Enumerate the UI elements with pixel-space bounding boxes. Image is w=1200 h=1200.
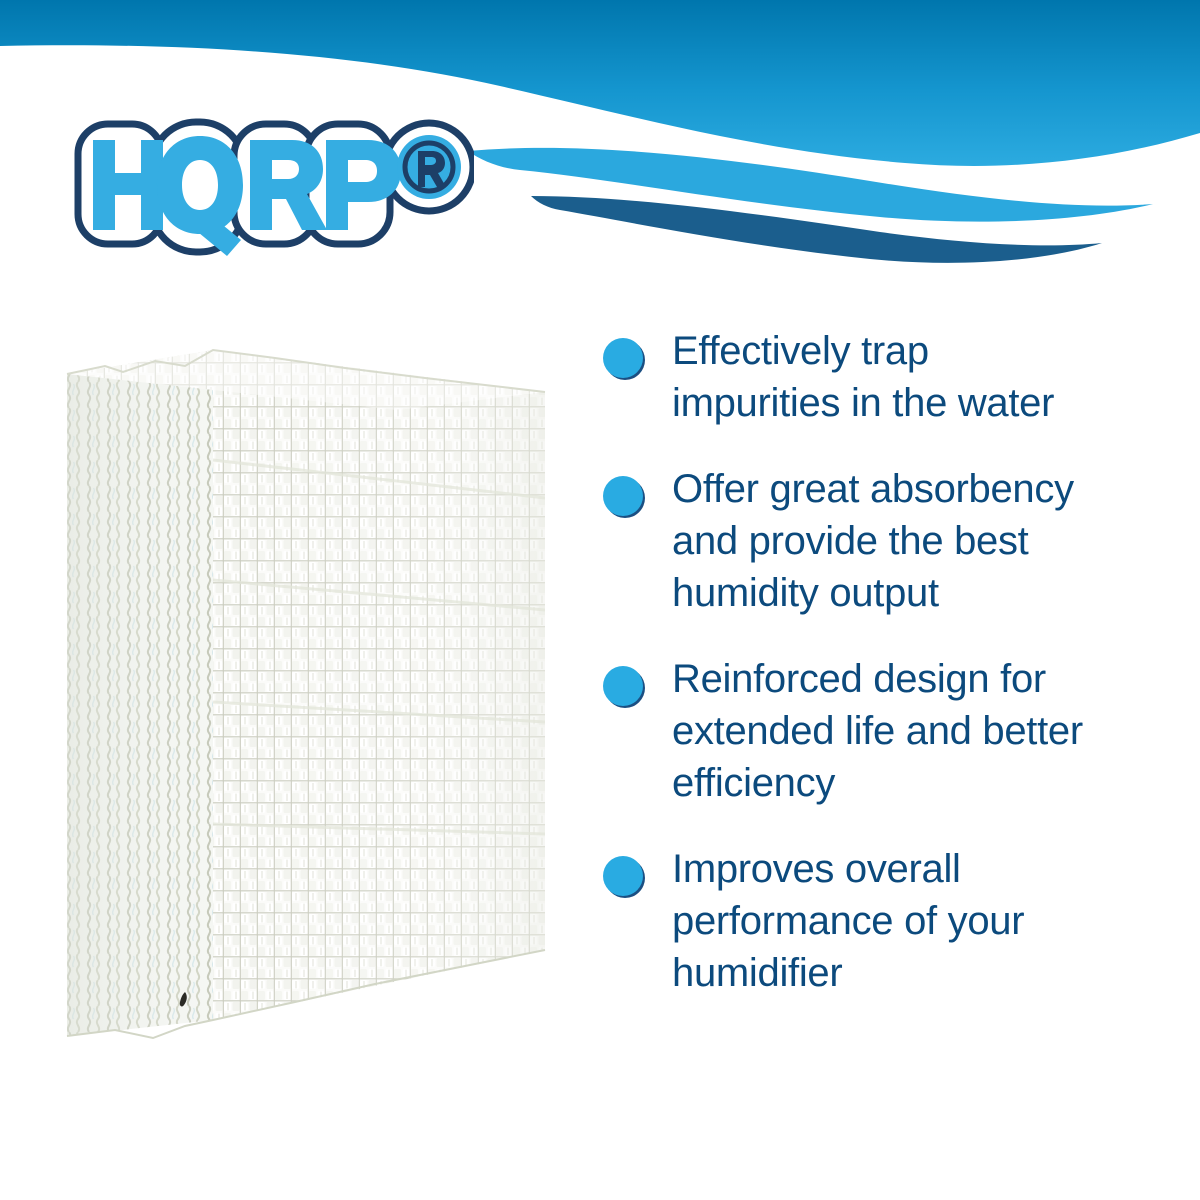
hqrp-logo: [74, 112, 474, 257]
feature-text-2: Offer great absorbency and provide the b…: [672, 463, 1180, 619]
feature-item-2: Offer great absorbency and provide the b…: [600, 463, 1180, 619]
bullet-circle-icon: [602, 475, 646, 519]
bullet-circle-icon: [602, 855, 646, 899]
feature-item-1: Effectively trap impurities in the water: [600, 325, 1180, 429]
bullet-circle-icon: [602, 665, 646, 709]
humidifier-filter-product-image: [45, 330, 565, 1060]
filter-front-face: [195, 330, 565, 1060]
feature-item-3: Reinforced design for extended life and …: [600, 653, 1180, 809]
bullet-circle-icon: [602, 337, 646, 381]
feature-item-4: Improves overall performance of your hum…: [600, 843, 1180, 999]
feature-text-3: Reinforced design for extended life and …: [672, 653, 1180, 809]
feature-text-4: Improves overall performance of your hum…: [672, 843, 1180, 999]
logo-letter-group: [78, 122, 473, 256]
feature-bullet-list: Effectively trap impurities in the water…: [600, 325, 1180, 1033]
product-feature-image: Effectively trap impurities in the water…: [0, 0, 1200, 1200]
feature-text-1: Effectively trap impurities in the water: [672, 325, 1180, 429]
registered-trademark-icon: [397, 135, 461, 199]
